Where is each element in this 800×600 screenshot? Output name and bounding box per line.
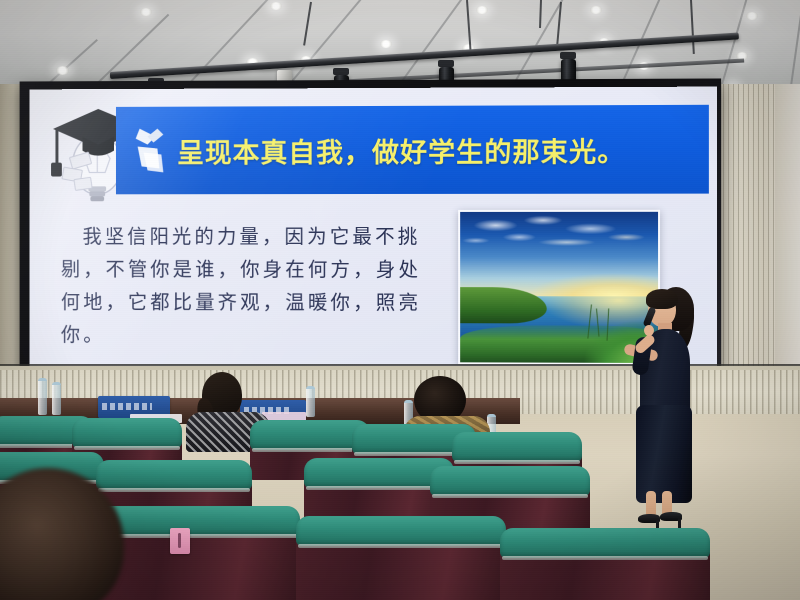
downlight-icon bbox=[746, 12, 758, 20]
downlight-icon bbox=[140, 8, 152, 16]
downlight-icon bbox=[476, 6, 488, 14]
water-bottle bbox=[52, 382, 61, 415]
pink-seat-label bbox=[170, 528, 190, 554]
slide-title-text: 呈现本真自我，做好学生的那束光。 bbox=[177, 130, 625, 170]
lecture-hall-photo: 呈现本真自我，做好学生的那束光。 我坚信阳光的力量，因为它最不挑剔，不管你是谁，… bbox=[0, 0, 800, 600]
presenter-woman bbox=[618, 285, 722, 525]
downlight-icon bbox=[270, 2, 282, 10]
downlight-icon bbox=[56, 66, 69, 75]
slide-body-text: 我坚信阳光的力量，因为它最不挑剔，不管你是谁，你身在何方，身处何地，它都比量齐观… bbox=[61, 220, 438, 352]
presenter-hand bbox=[644, 325, 654, 336]
water-bottle bbox=[306, 386, 315, 417]
right-wall-slats bbox=[713, 84, 775, 384]
seat-row-front-far bbox=[500, 528, 710, 600]
water-bottle bbox=[38, 378, 47, 415]
ribbon-mark-icon bbox=[134, 125, 173, 177]
presenter-heel-right bbox=[678, 518, 681, 528]
presenter-hair-front bbox=[646, 289, 678, 309]
slide-title-banner: 呈现本真自我，做好学生的那束光。 bbox=[116, 105, 709, 195]
downlight-icon bbox=[380, 40, 392, 48]
seat-row-front-right bbox=[296, 516, 506, 600]
projection-screen: 呈现本真自我，做好学生的那束光。 我坚信阳光的力量，因为它最不挑剔，不管你是谁，… bbox=[29, 87, 717, 386]
presenter-skirt bbox=[636, 405, 692, 503]
downlight-icon bbox=[590, 6, 602, 14]
